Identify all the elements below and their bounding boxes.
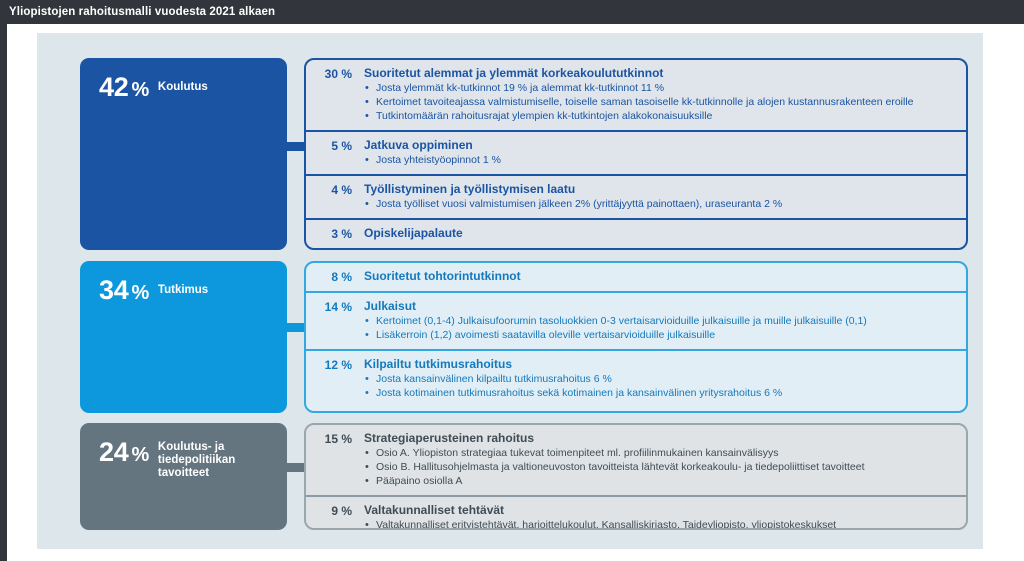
item-percent: 9 % (318, 503, 364, 518)
section-block-research: 34% Tutkimus (80, 261, 287, 413)
section-label-education: Koulutus (158, 81, 208, 94)
list-item: Osio A. Yliopiston strategiaa tukevat to… (364, 447, 956, 461)
section-percent-policy: 24% (99, 437, 149, 468)
section-row-education: 42% Koulutus 30 % Suoritetut alemmat ja … (80, 58, 968, 250)
item-percent: 14 % (318, 299, 364, 314)
list-item: Josta ylemmät kk-tutkinnot 19 % ja alemm… (364, 82, 956, 96)
list-item: Tutkintomäärän rahoitusrajat ylempien kk… (364, 110, 956, 124)
item-percent: 8 % (318, 269, 364, 284)
window-titlebar: Yliopistojen rahoitusmalli vuodesta 2021… (0, 0, 1024, 24)
item-body: Kilpailtu tutkimusrahoitus Josta kansain… (364, 357, 956, 401)
item-title: Julkaisut (364, 299, 956, 314)
document-canvas: 42% Koulutus 30 % Suoritetut alemmat ja … (7, 24, 1024, 561)
item-body: Julkaisut Kertoimet (0,1-4) Julkaisufoor… (364, 299, 956, 343)
funding-model-slide: 42% Koulutus 30 % Suoritetut alemmat ja … (37, 33, 983, 549)
list-item: Pääpaino osiolla A (364, 475, 956, 489)
section-percent-research: 34% (99, 275, 149, 306)
item-percent: 12 % (318, 357, 364, 372)
item-body: Strategiaperusteinen rahoitus Osio A. Yl… (364, 431, 956, 489)
item-body: Suoritetut alemmat ja ylemmät korkeakoul… (364, 66, 956, 124)
item-title: Valtakunnalliset tehtävät (364, 503, 956, 518)
list-item: Kertoimet (0,1-4) Julkaisufoorumin tasol… (364, 315, 956, 329)
list-item: Lisäkerroin (1,2) avoimesti saatavilla o… (364, 329, 956, 343)
section-label-research: Tutkimus (158, 284, 208, 297)
section-heading-education: 42% Koulutus (99, 72, 287, 103)
window-left-edge (0, 24, 7, 561)
item-bullets: Josta työlliset vuosi valmistumisen jälk… (364, 198, 956, 212)
section-block-education: 42% Koulutus (80, 58, 287, 250)
section-panel-policy: 15 % Strategiaperusteinen rahoitus Osio … (304, 423, 968, 530)
item-body: Valtakunnalliset tehtävät Valtakunnallis… (364, 503, 956, 530)
panel-item: 9 % Valtakunnalliset tehtävät Valtakunna… (306, 495, 966, 530)
panel-item: 3 % Opiskelijapalaute (306, 218, 966, 248)
item-percent: 4 % (318, 182, 364, 197)
item-title: Opiskelijapalaute (364, 226, 956, 241)
item-percent: 5 % (318, 138, 364, 153)
panel-item: 8 % Suoritetut tohtorintutkinnot (306, 263, 966, 291)
panel-item: 30 % Suoritetut alemmat ja ylemmät korke… (306, 60, 966, 130)
item-bullets: Kertoimet (0,1-4) Julkaisufoorumin tasol… (364, 315, 956, 343)
section-heading-policy: 24% Koulutus- ja tiedepolitiikan tavoitt… (99, 437, 287, 481)
section-heading-research: 34% Tutkimus (99, 275, 287, 306)
item-body: Suoritetut tohtorintutkinnot (364, 269, 956, 285)
item-percent: 30 % (318, 66, 364, 81)
item-bullets: Osio A. Yliopiston strategiaa tukevat to… (364, 447, 956, 489)
panel-item: 5 % Jatkuva oppiminen Josta yhteistyöopi… (306, 130, 966, 174)
section-label-policy: Koulutus- ja tiedepolitiikan tavoitteet (158, 441, 235, 481)
list-item: Valtakunnalliset erityistehtävät, harjoi… (364, 519, 956, 530)
panel-item: 12 % Kilpailtu tutkimusrahoitus Josta ka… (306, 349, 966, 407)
item-title: Suoritetut alemmat ja ylemmät korkeakoul… (364, 66, 956, 81)
list-item: Osio B. Hallitusohjelmasta ja valtioneuv… (364, 461, 956, 475)
item-percent: 3 % (318, 226, 364, 241)
item-title: Kilpailtu tutkimusrahoitus (364, 357, 956, 372)
section-panel-education: 30 % Suoritetut alemmat ja ylemmät korke… (304, 58, 968, 250)
section-block-policy: 24% Koulutus- ja tiedepolitiikan tavoitt… (80, 423, 287, 530)
item-title: Suoritetut tohtorintutkinnot (364, 269, 956, 284)
panel-item: 4 % Työllistyminen ja työllistymisen laa… (306, 174, 966, 218)
list-item: Josta työlliset vuosi valmistumisen jälk… (364, 198, 956, 212)
item-title: Työllistyminen ja työllistymisen laatu (364, 182, 956, 197)
list-item: Kertoimet tavoiteajassa valmistumiselle,… (364, 96, 956, 110)
panel-item: 15 % Strategiaperusteinen rahoitus Osio … (306, 425, 966, 495)
item-body: Jatkuva oppiminen Josta yhteistyöopinnot… (364, 138, 956, 168)
panel-item: 14 % Julkaisut Kertoimet (0,1-4) Julkais… (306, 291, 966, 349)
item-bullets: Josta yhteistyöopinnot 1 % (364, 154, 956, 168)
section-row-research: 34% Tutkimus 8 % Suoritetut tohtorintutk… (80, 261, 968, 413)
list-item: Josta kotimainen tutkimusrahoitus sekä k… (364, 387, 956, 401)
section-percent-education: 42% (99, 72, 149, 103)
section-row-policy: 24% Koulutus- ja tiedepolitiikan tavoitt… (80, 423, 968, 530)
item-bullets: Josta kansainvälinen kilpailtu tutkimusr… (364, 373, 956, 401)
item-title: Strategiaperusteinen rahoitus (364, 431, 956, 446)
item-bullets: Valtakunnalliset erityistehtävät, harjoi… (364, 519, 956, 530)
section-panel-research: 8 % Suoritetut tohtorintutkinnot 14 % Ju… (304, 261, 968, 413)
list-item: Josta kansainvälinen kilpailtu tutkimusr… (364, 373, 956, 387)
item-bullets: Josta ylemmät kk-tutkinnot 19 % ja alemm… (364, 82, 956, 124)
window-title: Yliopistojen rahoitusmalli vuodesta 2021… (9, 6, 275, 18)
item-percent: 15 % (318, 431, 364, 446)
item-title: Jatkuva oppiminen (364, 138, 956, 153)
list-item: Josta yhteistyöopinnot 1 % (364, 154, 956, 168)
item-body: Opiskelijapalaute (364, 226, 956, 242)
item-body: Työllistyminen ja työllistymisen laatu J… (364, 182, 956, 212)
